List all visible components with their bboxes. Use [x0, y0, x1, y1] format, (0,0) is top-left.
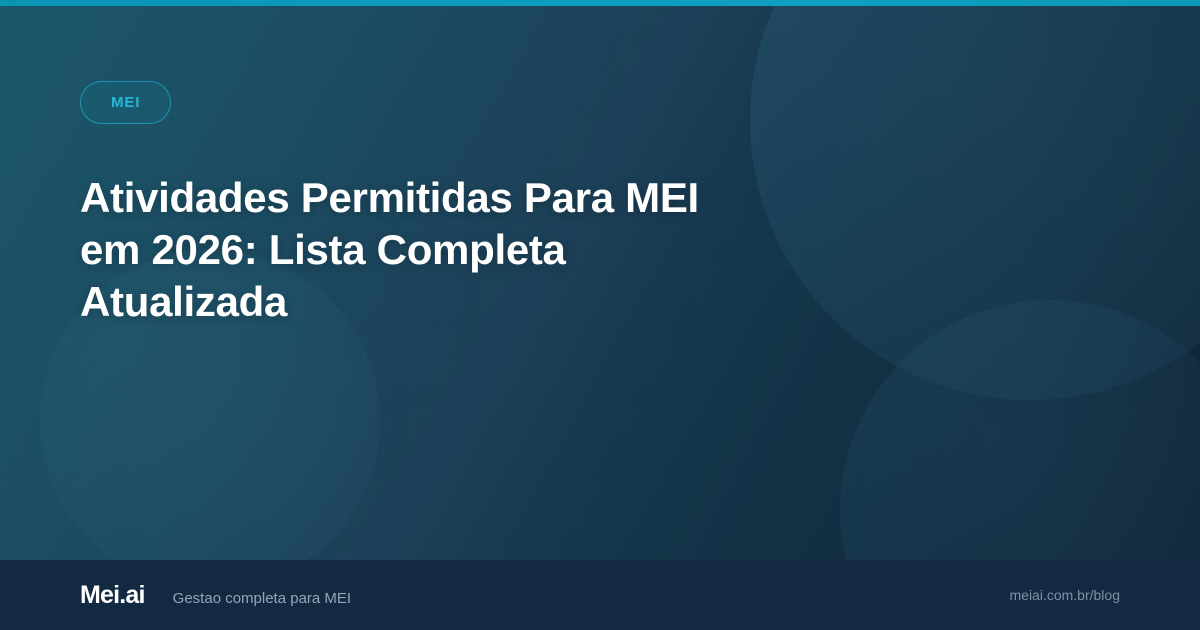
footer-url: meiai.com.br/blog	[1010, 587, 1121, 603]
decorative-circle-top-right	[750, 0, 1200, 400]
footer-brand-group: Mei.ai Gestao completa para MEI	[80, 581, 351, 610]
brand-tagline: Gestao completa para MEI	[173, 590, 351, 607]
category-badge-label: MEI	[111, 94, 140, 111]
category-badge: MEI	[80, 81, 171, 124]
top-accent-bar	[0, 0, 1200, 6]
card-content: MEI Atividades Permitidas Para MEI em 20…	[80, 0, 780, 328]
brand-logo: Mei.ai	[80, 581, 145, 610]
og-card: MEI Atividades Permitidas Para MEI em 20…	[0, 0, 1200, 630]
page-title: Atividades Permitidas Para MEI em 2026: …	[80, 172, 720, 328]
footer-bar: Mei.ai Gestao completa para MEI meiai.co…	[0, 560, 1200, 630]
